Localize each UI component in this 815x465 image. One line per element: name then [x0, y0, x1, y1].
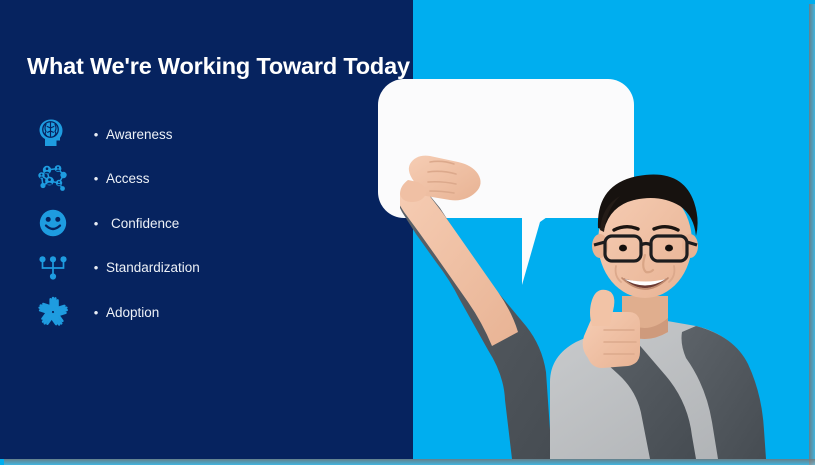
hierarchy-chart-icon	[32, 247, 74, 289]
brain-head-icon	[32, 113, 74, 155]
list-bullet: •	[86, 306, 106, 319]
page-title: What We're Working Toward Today	[27, 53, 397, 80]
list-item-standardization[interactable]: • Standardization	[32, 246, 392, 291]
list-item-label: Access	[106, 172, 150, 186]
list-bullet: •	[86, 217, 106, 230]
list-item-label: Confidence	[111, 217, 179, 231]
list-item-label: Standardization	[106, 261, 200, 275]
list-bullet: •	[86, 261, 106, 274]
list-item-label: Adoption	[106, 306, 159, 320]
bullet-list: • Awareness	[32, 112, 392, 335]
smiley-face-icon	[32, 202, 74, 244]
person-photo	[400, 150, 809, 459]
list-bullet: •	[86, 172, 106, 185]
list-item-label: Awareness	[106, 128, 173, 142]
list-item-adoption[interactable]: • Adoption	[32, 290, 392, 335]
list-item-awareness[interactable]: • Awareness	[32, 112, 392, 157]
presentation-slide: What We're Working Toward Today • Awaren…	[0, 0, 815, 465]
list-item-access[interactable]: • Access	[32, 157, 392, 202]
list-item-confidence[interactable]: • Confidence	[32, 201, 392, 246]
slide-frame-shadow-right	[809, 4, 815, 465]
slide-frame-shadow-bottom	[4, 459, 815, 465]
network-nodes-icon	[32, 158, 74, 200]
hands-star-icon	[32, 291, 74, 333]
list-bullet: •	[86, 128, 106, 141]
